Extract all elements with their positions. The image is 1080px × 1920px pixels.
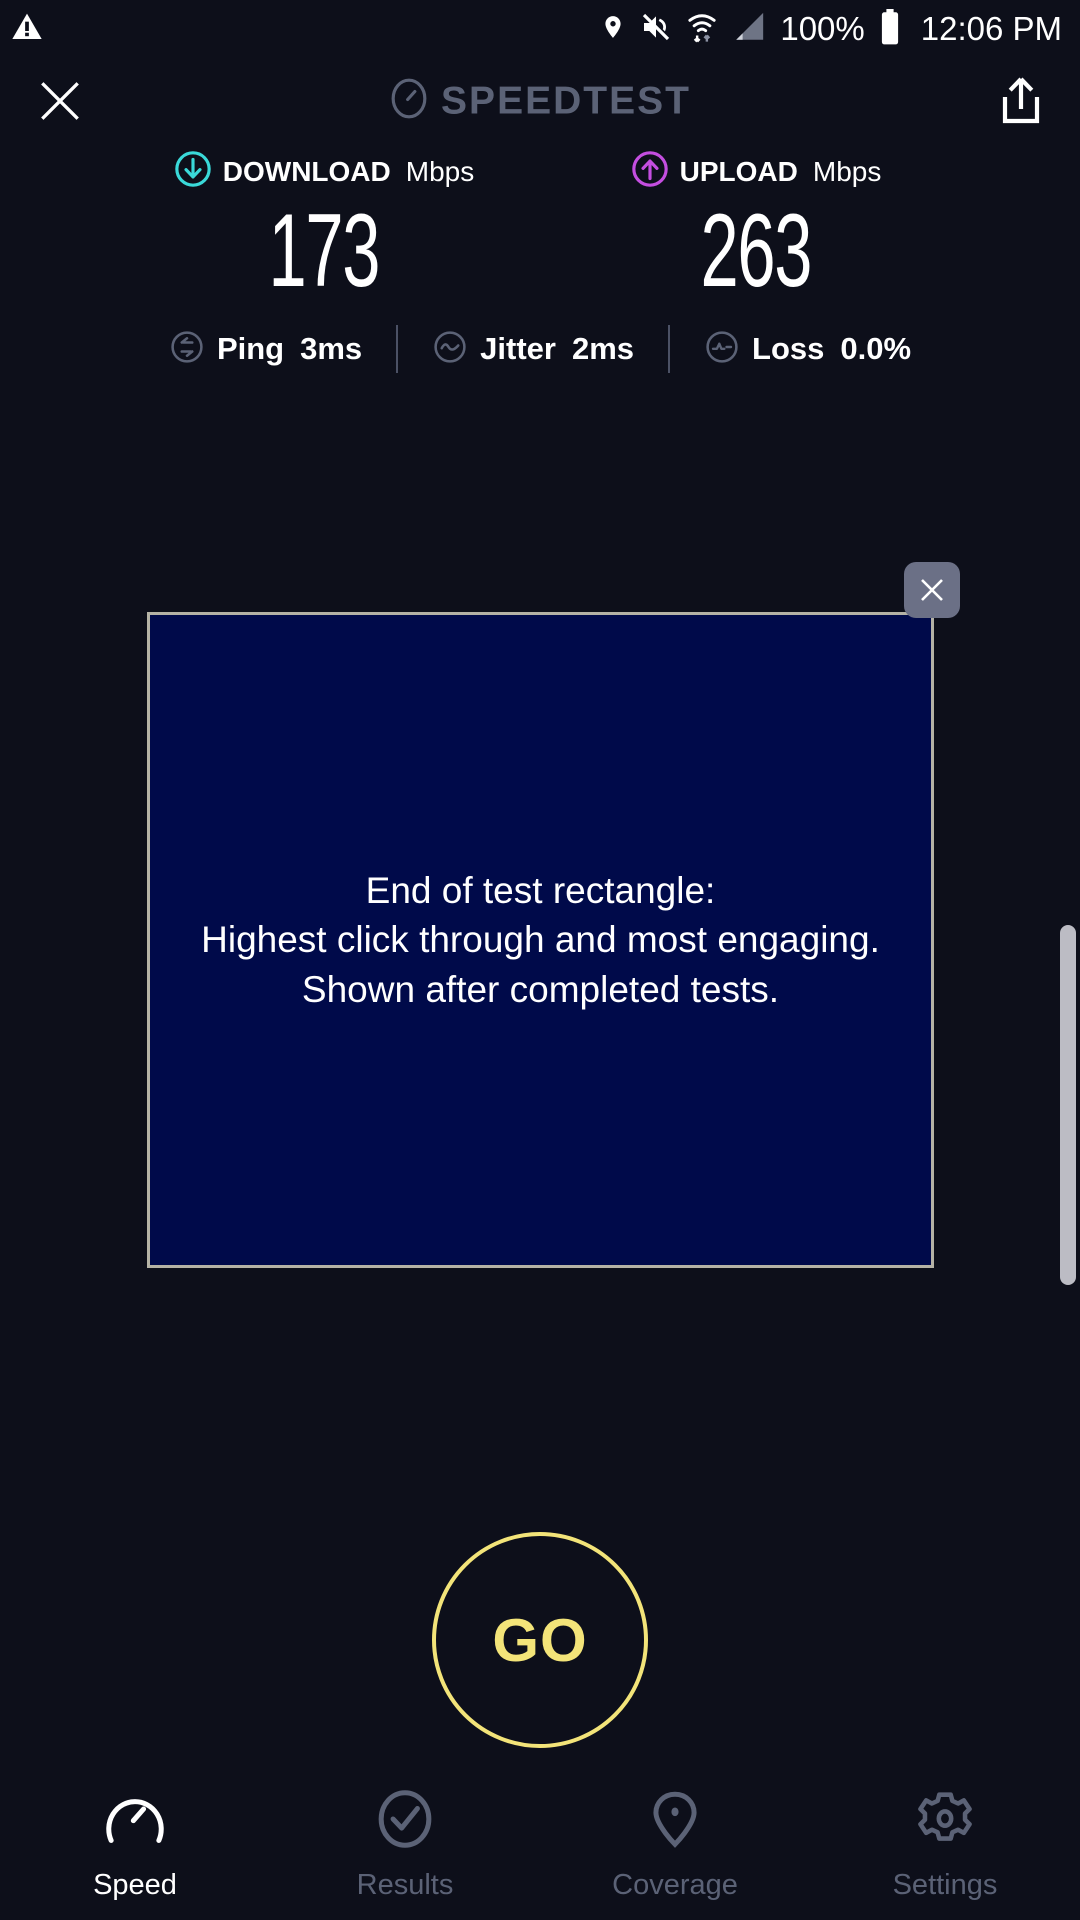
status-bar-left bbox=[10, 11, 44, 48]
status-bar-right: 100% 12:06 PM bbox=[600, 9, 1062, 50]
gear-icon bbox=[914, 1790, 976, 1853]
jitter-label: Jitter bbox=[480, 331, 556, 367]
go-button-label: GO bbox=[492, 1606, 587, 1675]
upload-metric: UPLOAD Mbps 263 bbox=[576, 150, 936, 303]
scrollbar[interactable] bbox=[1060, 925, 1076, 1285]
go-button[interactable]: GO bbox=[432, 1532, 648, 1748]
download-value: 173 bbox=[269, 199, 380, 303]
advertisement: End of test rectangle: Highest click thr… bbox=[147, 612, 934, 1268]
ad-close-icon[interactable] bbox=[904, 562, 960, 618]
download-header: DOWNLOAD Mbps bbox=[174, 150, 474, 193]
loss-icon bbox=[704, 329, 740, 370]
battery-full-icon bbox=[879, 9, 901, 50]
download-unit: Mbps bbox=[406, 156, 474, 188]
jitter-value: 2ms bbox=[572, 331, 634, 367]
location-pin-icon bbox=[600, 11, 626, 48]
map-pin-icon bbox=[644, 1790, 706, 1853]
upload-header: UPLOAD Mbps bbox=[631, 150, 882, 193]
volume-muted-icon bbox=[640, 11, 672, 48]
wifi-icon bbox=[686, 10, 718, 49]
ping-metric: Ping 3ms bbox=[135, 329, 396, 370]
speedometer-icon bbox=[104, 1790, 166, 1853]
nav-item-speed[interactable]: Speed bbox=[0, 1790, 270, 1902]
download-label: DOWNLOAD bbox=[223, 156, 391, 188]
ping-label: Ping bbox=[217, 331, 284, 367]
app-header: SPEEDTEST bbox=[0, 58, 1080, 144]
jitter-metric: Jitter 2ms bbox=[398, 329, 668, 370]
ping-jitter-loss-row: Ping 3ms Jitter 2ms Loss 0.0% bbox=[0, 325, 1080, 373]
upload-label: UPLOAD bbox=[680, 156, 798, 188]
loss-label: Loss bbox=[752, 331, 824, 367]
nav-label-coverage: Coverage bbox=[612, 1869, 738, 1902]
ping-value: 3ms bbox=[300, 331, 362, 367]
ad-banner[interactable]: End of test rectangle: Highest click thr… bbox=[147, 612, 934, 1268]
nav-item-settings[interactable]: Settings bbox=[810, 1790, 1080, 1902]
brand-title: SPEEDTEST bbox=[441, 79, 691, 123]
upload-arrow-icon bbox=[631, 150, 669, 193]
check-circle-icon bbox=[374, 1790, 436, 1853]
loss-metric: Loss 0.0% bbox=[670, 329, 945, 370]
upload-value: 263 bbox=[701, 199, 812, 303]
ad-text: End of test rectangle: Highest click thr… bbox=[201, 866, 880, 1014]
share-icon[interactable] bbox=[997, 75, 1045, 127]
nav-item-coverage[interactable]: Coverage bbox=[540, 1790, 810, 1902]
upload-unit: Mbps bbox=[813, 156, 881, 188]
status-bar-clock: 12:06 PM bbox=[921, 10, 1062, 48]
nav-label-speed: Speed bbox=[93, 1869, 177, 1902]
jitter-icon bbox=[432, 329, 468, 370]
bottom-navigation: Speed Results Coverage Settings bbox=[0, 1780, 1080, 1920]
download-arrow-icon bbox=[174, 150, 212, 193]
status-bar: 100% 12:06 PM bbox=[0, 0, 1080, 58]
download-upload-row: DOWNLOAD Mbps 173 UPLOAD Mbps 263 bbox=[0, 142, 1080, 303]
cellular-signal-icon bbox=[732, 11, 766, 48]
ping-icon bbox=[169, 329, 205, 370]
battery-percent-label: 100% bbox=[780, 10, 864, 48]
warning-triangle-icon bbox=[10, 11, 44, 48]
loss-value: 0.0% bbox=[840, 331, 911, 367]
nav-label-results: Results bbox=[357, 1869, 454, 1902]
brand-logo: SPEEDTEST bbox=[0, 77, 1080, 126]
download-metric: DOWNLOAD Mbps 173 bbox=[144, 150, 504, 303]
nav-item-results[interactable]: Results bbox=[270, 1790, 540, 1902]
nav-label-settings: Settings bbox=[893, 1869, 998, 1902]
speedtest-gauge-icon bbox=[389, 77, 429, 126]
results-panel: DOWNLOAD Mbps 173 UPLOAD Mbps 263 bbox=[0, 142, 1080, 373]
